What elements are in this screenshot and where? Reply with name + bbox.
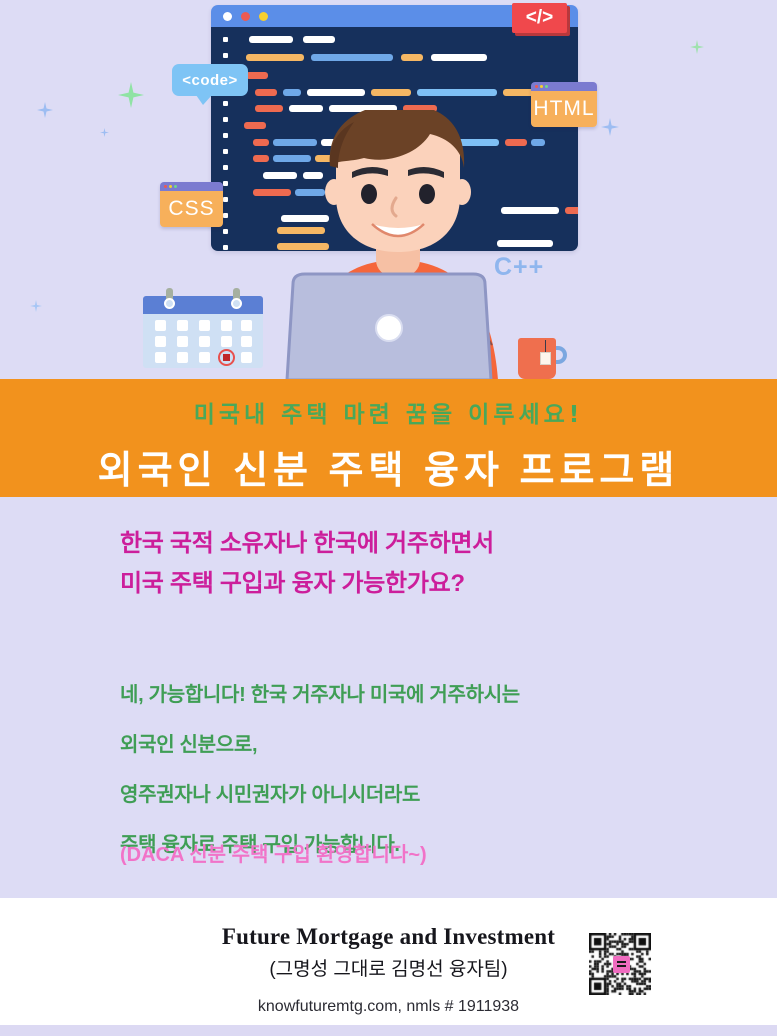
sparkle-green-icon — [118, 82, 144, 108]
sparkle-small-icon — [100, 128, 109, 137]
html-badge: HTML — [531, 82, 597, 127]
html-badge-bar — [531, 82, 597, 91]
sparkle-blue-right-icon — [601, 118, 619, 136]
sparkle-green-right-icon — [690, 40, 704, 54]
company-name: Future Mortgage and Investment — [0, 924, 777, 950]
sparkle-blue-icon — [37, 102, 53, 118]
calendar-illustration — [143, 288, 263, 368]
answer-line-3: 영주권자나 시민권자가 아니시더라도 — [120, 770, 520, 820]
code-bubble-label: <code> — [182, 72, 238, 89]
css-badge-bar — [160, 182, 223, 191]
code-tag-badge: </> — [512, 3, 567, 33]
window-dot-yellow-icon — [259, 12, 268, 21]
laptop-illustration — [283, 272, 495, 379]
bottom-strip — [0, 1025, 777, 1036]
question-line-1: 한국 국적 소유자나 한국에 거주하면서 — [120, 524, 494, 564]
code-bubble: <code> — [172, 64, 248, 96]
calendar-marked-date — [218, 349, 235, 366]
headline-band: 미국내 주택 마련 꿈을 이루세요! 외국인 신분 주택 융자 프로그램 — [0, 379, 777, 497]
qr-code[interactable] — [589, 933, 651, 995]
sparkle-lower-left-icon — [30, 300, 42, 312]
question-block: 한국 국적 소유자나 한국에 거주하면서 미국 주택 구입과 융자 가능한가요? — [120, 524, 494, 604]
coffee-mug-illustration — [518, 338, 563, 379]
window-dot-red-icon — [241, 12, 250, 21]
contact-line: knowfuturemtg.com, nmls # 1911938 — [0, 998, 777, 1016]
team-name: (그명성 그대로 김명선 융자팀) — [0, 954, 777, 981]
code-tag-label: </> — [526, 7, 553, 29]
body-copy-section: 한국 국적 소유자나 한국에 거주하면서 미국 주택 구입과 융자 가능한가요?… — [0, 497, 777, 898]
band-title: 외국인 신분 주택 융자 프로그램 — [0, 439, 777, 494]
footer: Future Mortgage and Investment (그명성 그대로 … — [0, 898, 777, 1025]
hero-illustration: </> <code> HTML CSS C++ — [0, 0, 777, 379]
poster: </> <code> HTML CSS C++ — [0, 0, 777, 1036]
qr-center-logo-icon — [613, 956, 630, 973]
daca-note: (DACA 신분 주택 구입 환영합니다~) — [120, 838, 427, 867]
window-dot-white-icon — [223, 12, 232, 21]
html-badge-label: HTML — [531, 91, 597, 127]
css-badge: CSS — [160, 182, 223, 227]
band-subtitle: 미국내 주택 마련 꿈을 이루세요! — [0, 379, 777, 429]
css-badge-label: CSS — [160, 191, 223, 227]
question-line-2: 미국 주택 구입과 융자 가능한가요? — [120, 564, 494, 604]
answer-line-2: 외국인 신분으로, — [120, 720, 520, 770]
answer-line-1: 네, 가능합니다! 한국 거주자나 미국에 거주하시는 — [120, 670, 520, 720]
